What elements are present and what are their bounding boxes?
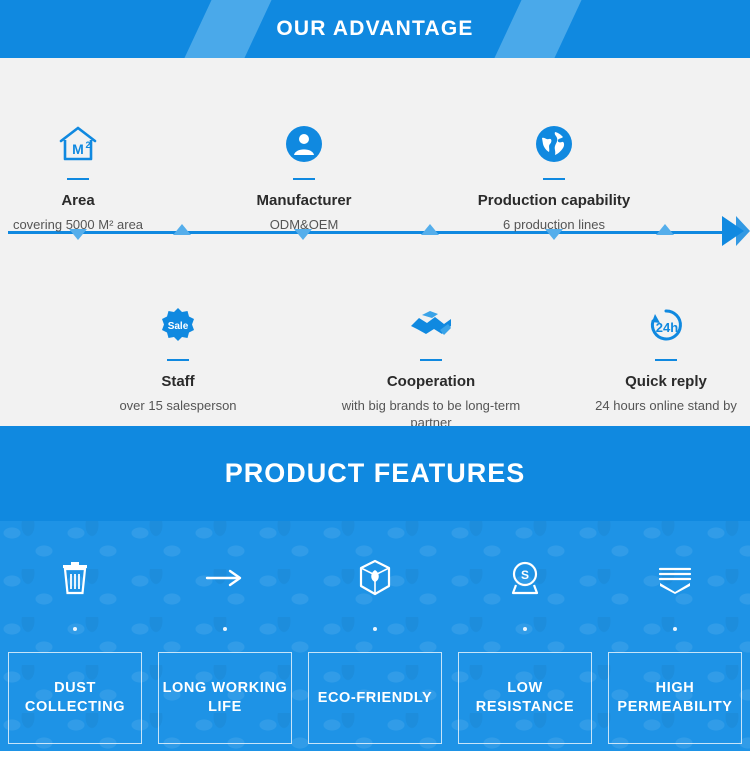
globe-icon [459, 120, 649, 168]
node-divider [167, 359, 189, 361]
node-desc: over 15 salesperson [83, 397, 273, 414]
product-features-header: PRODUCT FEATURES [0, 426, 750, 521]
node-title: Quick reply [571, 373, 750, 390]
dust-bin-icon [58, 557, 92, 599]
product-features-title: PRODUCT FEATURES [225, 458, 526, 489]
node-desc: ODM&OEM [209, 216, 399, 233]
feature-label-box: DUST COLLECTING [8, 652, 142, 744]
feature-label: HIGH PERMEABILITY [609, 679, 741, 717]
node-divider [655, 359, 677, 361]
connector-dot [73, 627, 77, 631]
advantage-node-cooperation: Cooperation with big brands to be long-t… [336, 301, 526, 431]
feature-item-low-resistance: S LOW RESISTANCE [458, 521, 592, 783]
layers-permeability-icon [656, 557, 694, 599]
user-circle-icon [209, 120, 399, 168]
node-divider [67, 178, 89, 180]
advantage-node-manufacturer: Manufacturer ODM&OEM [209, 120, 399, 233]
node-title: Production capability [459, 192, 649, 209]
page-root: OUR ADVANTAGE M 2 [0, 0, 750, 783]
svg-text:S: S [521, 568, 529, 582]
feature-item-high-permeability: HIGH PERMEABILITY [608, 521, 742, 783]
long-arrow-right-icon [203, 557, 247, 599]
product-features-body: DUST COLLECTING LONG WORKING LIFE [0, 521, 750, 783]
timeline-tick-quickreply [656, 224, 674, 235]
advantage-header: OUR ADVANTAGE [0, 0, 750, 58]
eco-leaf-box-icon [357, 557, 393, 599]
node-desc: 24 hours online stand by [571, 397, 750, 414]
feature-item-dust-collecting: DUST COLLECTING [8, 521, 142, 783]
handshake-icon [336, 301, 526, 349]
feature-item-long-working-life: LONG WORKING LIFE [158, 521, 292, 783]
feature-label-box: HIGH PERMEABILITY [608, 652, 742, 744]
feature-label-box: LOW RESISTANCE [458, 652, 592, 744]
product-features-grid: DUST COLLECTING LONG WORKING LIFE [0, 521, 750, 783]
feature-label: ECO-FRIENDLY [318, 689, 433, 708]
footer-strip [0, 751, 750, 783]
advantage-node-area: M 2 Area covering 5000 M² area [0, 120, 173, 233]
node-desc: 6 production lines [459, 216, 649, 233]
node-title: Cooperation [336, 373, 526, 390]
advantage-node-quick-reply: 24h Quick reply 24 hours online stand by [571, 301, 750, 414]
house-square-meter-icon: M 2 [0, 120, 173, 168]
timeline-tick-cooperation [421, 224, 439, 235]
node-title: Staff [83, 373, 273, 390]
node-divider [293, 178, 315, 180]
connector-dot [373, 627, 377, 631]
feature-label: DUST COLLECTING [9, 679, 141, 717]
feature-item-eco-friendly: ECO-FRIENDLY [308, 521, 442, 783]
svg-text:M: M [72, 141, 84, 157]
sale-badge-icon: Sale [83, 301, 273, 349]
node-title: Manufacturer [209, 192, 399, 209]
advantage-node-production-capability: Production capability 6 production lines [459, 120, 649, 233]
feature-label-box: ECO-FRIENDLY [308, 652, 442, 744]
node-desc: covering 5000 M² area [0, 216, 173, 233]
advantage-body: M 2 Area covering 5000 M² area Manufactu… [0, 58, 750, 426]
feature-label-box: LONG WORKING LIFE [158, 652, 292, 744]
node-title: Area [0, 192, 173, 209]
advantage-header-title: OUR ADVANTAGE [0, 0, 750, 58]
svg-text:Sale: Sale [168, 321, 189, 332]
svg-text:2: 2 [85, 140, 90, 150]
advantage-node-staff: Sale Staff over 15 salesperson [83, 301, 273, 414]
connector-dot [523, 627, 527, 631]
connector-dot [673, 627, 677, 631]
feature-label: LONG WORKING LIFE [159, 679, 291, 717]
24h-clock-icon: 24h [571, 301, 750, 349]
feature-label: LOW RESISTANCE [459, 679, 591, 717]
node-divider [543, 178, 565, 180]
timeline-tick-staff [173, 224, 191, 235]
low-resistance-gauge-icon: S [508, 557, 542, 599]
node-divider [420, 359, 442, 361]
connector-dot [223, 627, 227, 631]
svg-text:24h: 24h [656, 320, 678, 335]
timeline-arrow-head-secondary [736, 216, 750, 246]
